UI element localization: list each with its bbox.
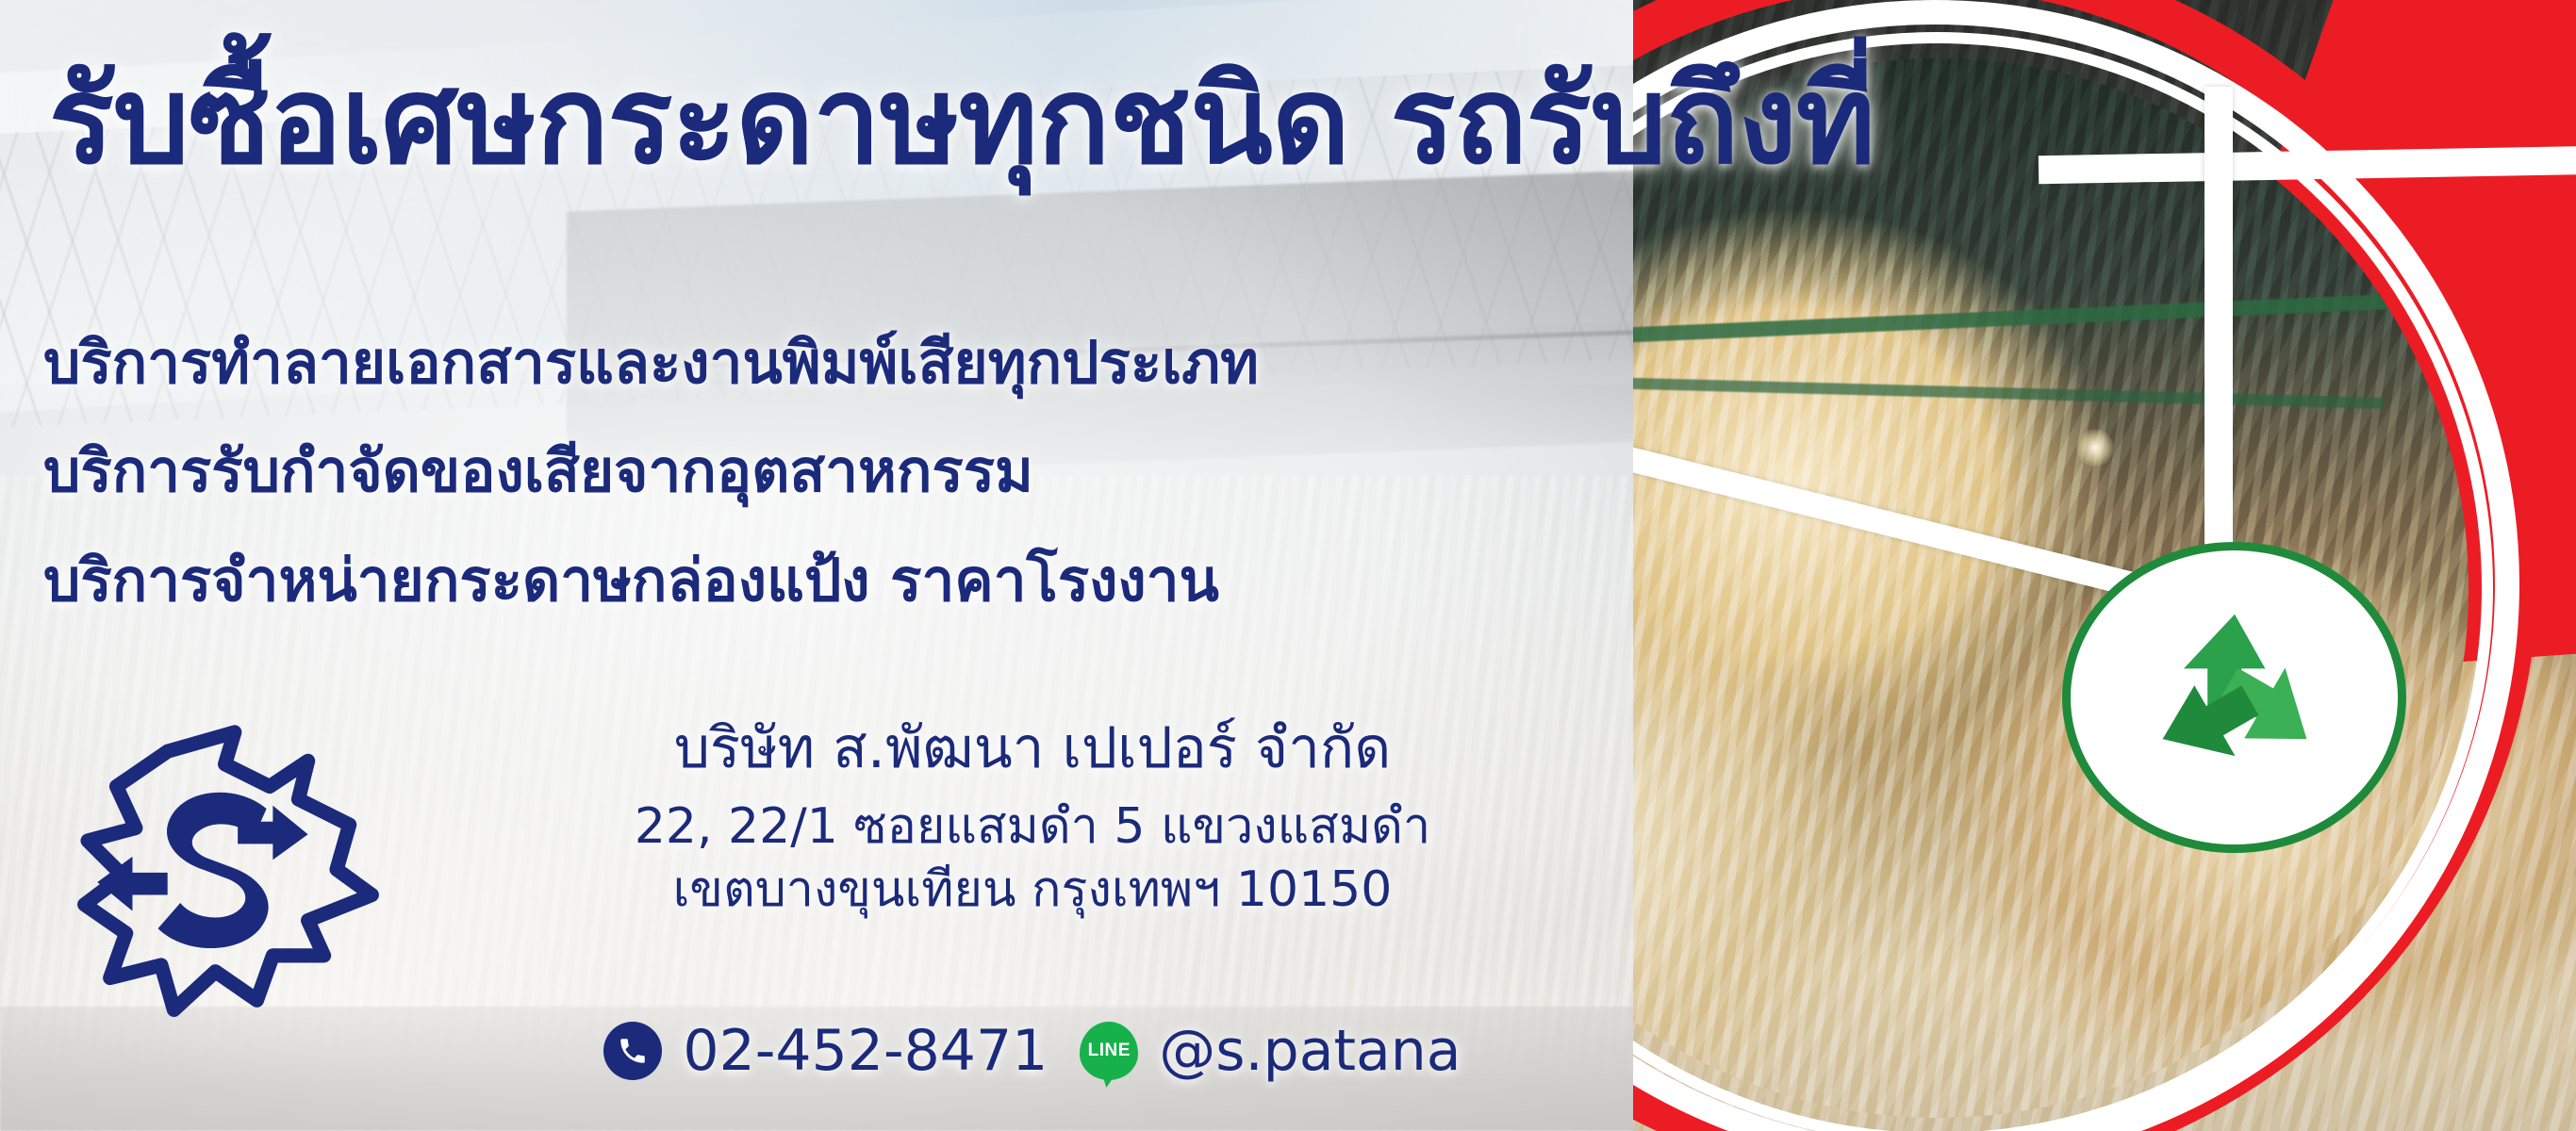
banner-content: รับซื้อเศษกระดาษทุกชนิด รถรับถึงที่ บริก… bbox=[0, 0, 1792, 1131]
line-id: @s.patana bbox=[1159, 1018, 1461, 1084]
service-item: บริการทำลายเอกสารและงานพิมพ์เสียทุกประเภ… bbox=[43, 330, 1259, 395]
service-item: บริการจำหน่ายกระดาษกล่องแป้ง ราคาโรงงาน bbox=[43, 548, 1259, 613]
s-patana-recycle-logo bbox=[68, 716, 388, 1027]
line-contact[interactable]: LINE @s.patana bbox=[1080, 1018, 1461, 1084]
company-address-line-1: 22, 22/1 ซอยแสมดำ 5 แขวงแสมดำ bbox=[528, 795, 1537, 860]
advertising-banner: รับซื้อเศษกระดาษทุกชนิด รถรับถึงที่ บริก… bbox=[0, 0, 2576, 1131]
contact-row: 02-452-8471 LINE @s.patana bbox=[528, 1018, 1537, 1084]
company-name: บริษัท ส.พัฒนา เปเปอร์ จำกัด bbox=[528, 716, 1537, 782]
headline: รับซื้อเศษกระดาษทุกชนิด รถรับถึงที่ bbox=[49, 60, 1874, 184]
phone-number: 02-452-8471 bbox=[683, 1018, 1048, 1084]
line-icon: LINE bbox=[1080, 1022, 1138, 1080]
company-address-line-2: เขตบางขุนเทียน กรุงเทพฯ 10150 bbox=[528, 859, 1537, 923]
company-info: บริษัท ส.พัฒนา เปเปอร์ จำกัด 22, 22/1 ซอ… bbox=[528, 716, 1537, 923]
phone-icon bbox=[603, 1022, 662, 1080]
recycle-badge-icon bbox=[2062, 542, 2406, 853]
line-icon-label: LINE bbox=[1080, 1022, 1138, 1080]
phone-contact[interactable]: 02-452-8471 bbox=[603, 1018, 1048, 1084]
service-item: บริการรับกำจัดของเสียจากอุตสาหกรรม bbox=[43, 438, 1259, 503]
services-list: บริการทำลายเอกสารและงานพิมพ์เสียทุกประเภ… bbox=[43, 330, 1259, 613]
